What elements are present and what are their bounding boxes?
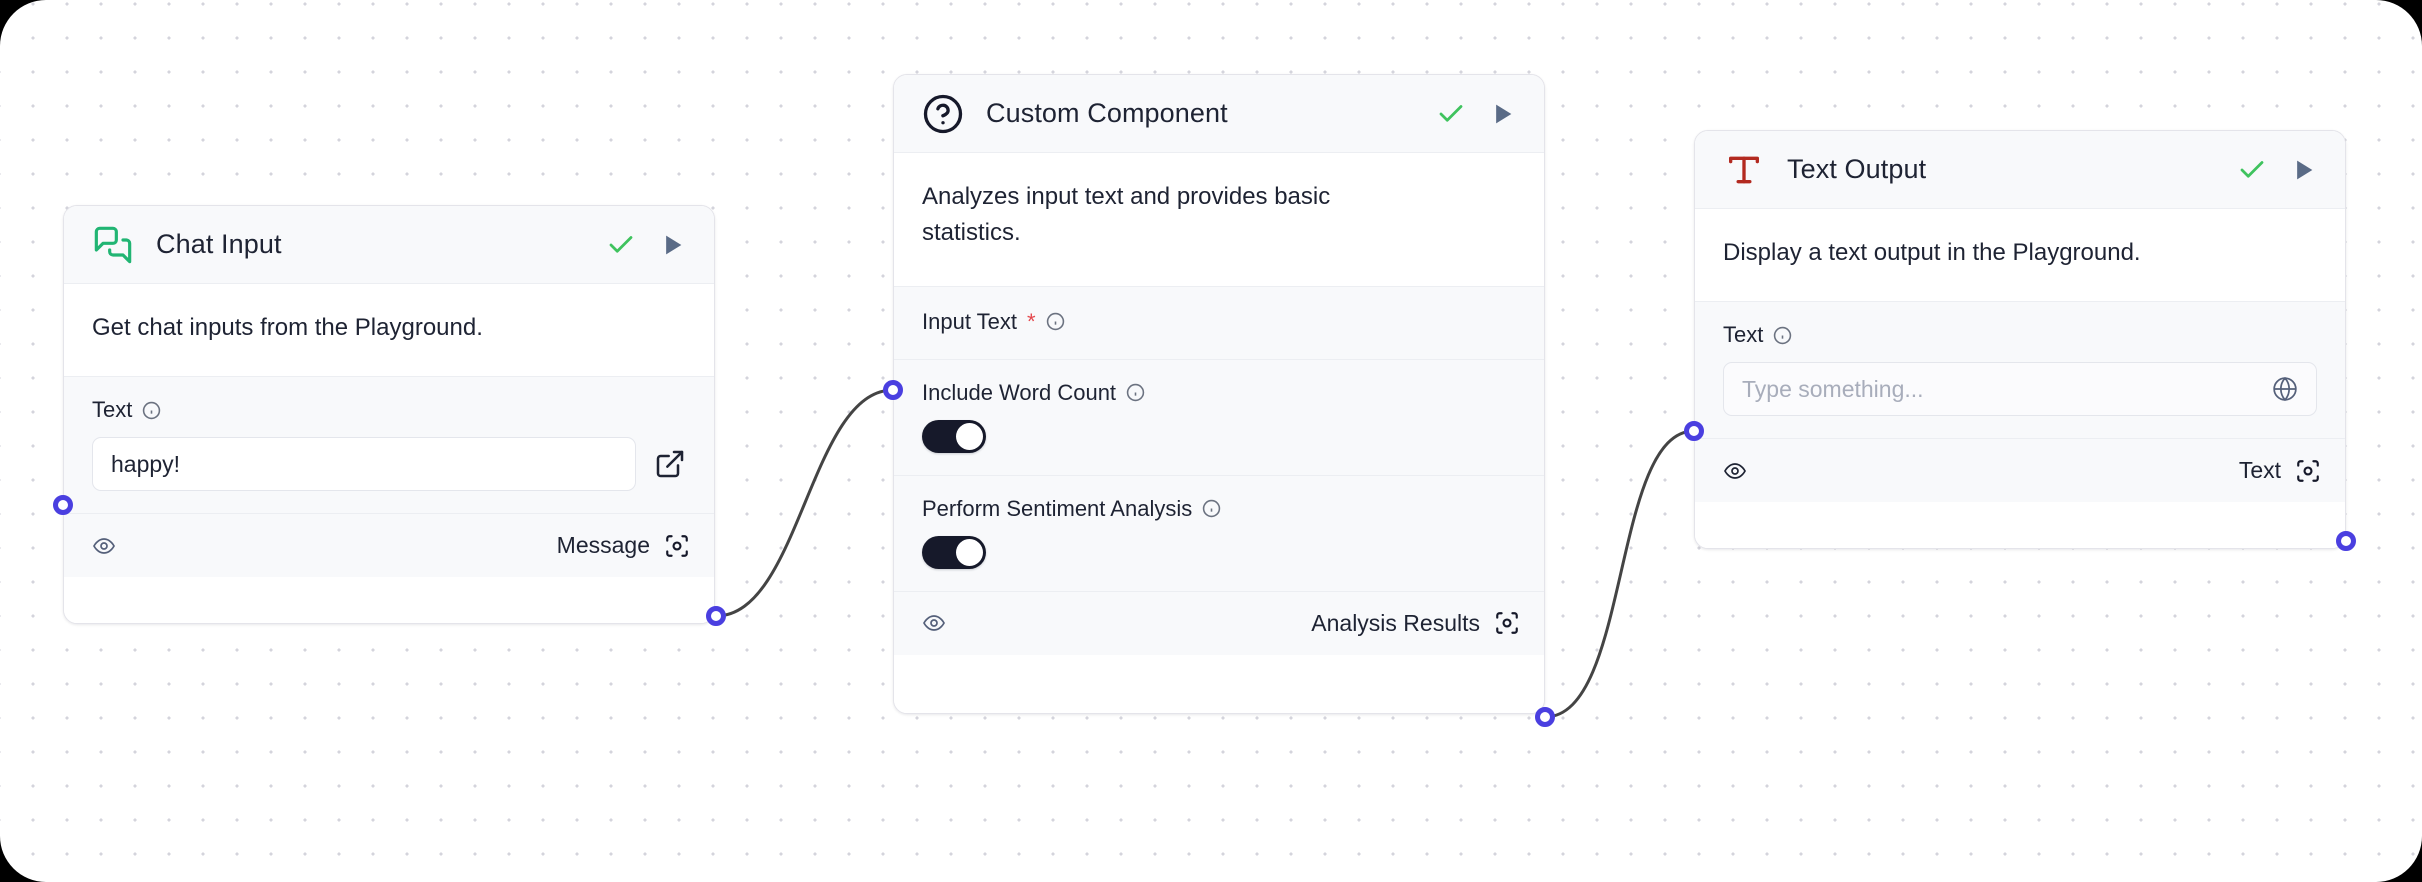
info-icon[interactable] <box>1126 383 1145 402</box>
node-footer-chat-input: Message <box>64 513 714 577</box>
toggle-knob <box>956 539 983 566</box>
play-icon[interactable] <box>2289 156 2317 184</box>
field-row-input-text: Input Text * <box>894 286 1544 359</box>
node-text-output[interactable]: Text Output Display a text output in the… <box>1694 130 2346 549</box>
node-custom-component[interactable]: Custom Component Analyzes input text and… <box>893 74 1545 714</box>
type-letter-t-icon <box>1723 149 1765 191</box>
info-icon[interactable] <box>1202 499 1221 518</box>
node-description: Analyzes input text and provides basic s… <box>894 153 1454 286</box>
node-title: Chat Input <box>156 229 282 260</box>
field-row-text: Text happy! <box>64 376 714 513</box>
field-label-input-text: Input Text * <box>922 309 1516 335</box>
node-title: Custom Component <box>986 98 1228 129</box>
info-icon[interactable] <box>1773 326 1792 345</box>
field-label-text: Text <box>92 397 686 423</box>
output-name: Analysis Results <box>1311 610 1480 637</box>
output-handle-group-message[interactable]: Message <box>557 532 690 559</box>
output-handle-custom-component-analysis-results[interactable] <box>1535 707 1555 727</box>
field-label-text-value: Text <box>92 397 132 423</box>
field-label-perform-sentiment-analysis-value: Perform Sentiment Analysis <box>922 496 1192 522</box>
scan-target-icon[interactable] <box>664 533 690 559</box>
info-icon[interactable] <box>142 401 161 420</box>
node-tail <box>64 577 714 623</box>
node-header-text-output[interactable]: Text Output <box>1695 131 2345 209</box>
play-icon[interactable] <box>1488 100 1516 128</box>
globe-icon[interactable] <box>2272 376 2298 402</box>
field-row-perform-sentiment-analysis: Perform Sentiment Analysis <box>894 475 1544 591</box>
field-label-text-value: Text <box>1723 322 1763 348</box>
node-header-custom-component[interactable]: Custom Component <box>894 75 1544 153</box>
node-description: Display a text output in the Playground. <box>1695 209 2345 301</box>
field-label-include-word-count-value: Include Word Count <box>922 380 1116 406</box>
text-input-wrap: Type something... <box>1723 362 2317 416</box>
node-footer-custom-component: Analysis Results <box>894 591 1544 655</box>
scan-target-icon[interactable] <box>1494 610 1520 636</box>
eye-icon[interactable] <box>922 611 946 635</box>
flow-canvas[interactable]: Chat Input Get chat inputs from the Play… <box>0 0 2422 882</box>
scan-target-icon[interactable] <box>2295 458 2321 484</box>
output-name: Message <box>557 532 650 559</box>
output-name: Text <box>2239 457 2281 484</box>
node-header-actions <box>1436 99 1516 129</box>
node-header-actions <box>606 230 686 260</box>
external-link-icon[interactable] <box>654 448 686 480</box>
question-circle-icon <box>922 93 964 135</box>
text-input-wrap: happy! <box>92 437 686 491</box>
output-handle-text-output-text[interactable] <box>2336 531 2356 551</box>
node-description: Get chat inputs from the Playground. <box>64 284 714 376</box>
eye-icon[interactable] <box>1723 459 1747 483</box>
toggle-perform-sentiment-analysis[interactable] <box>922 536 986 569</box>
messages-square-icon <box>92 224 134 266</box>
output-handle-chat-input-message[interactable] <box>706 606 726 626</box>
node-chat-input[interactable]: Chat Input Get chat inputs from the Play… <box>63 205 715 624</box>
node-tail <box>894 655 1544 713</box>
field-label-include-word-count: Include Word Count <box>922 380 1516 406</box>
check-icon[interactable] <box>606 230 636 260</box>
edge-chat-input-to-custom-component <box>716 390 893 616</box>
required-marker: * <box>1027 311 1036 333</box>
field-label-perform-sentiment-analysis: Perform Sentiment Analysis <box>922 496 1516 522</box>
text-input-placeholder: Type something... <box>1742 376 1924 403</box>
node-tail <box>1695 502 2345 548</box>
node-footer-text-output: Text <box>1695 438 2345 502</box>
check-icon[interactable] <box>2237 155 2267 185</box>
input-handle-chat-input[interactable] <box>53 495 73 515</box>
node-header-actions <box>2237 155 2317 185</box>
toggle-knob <box>956 423 983 450</box>
field-label-text: Text <box>1723 322 2317 348</box>
input-handle-custom-component-input-text[interactable] <box>883 380 903 400</box>
text-input-output[interactable]: Type something... <box>1723 362 2317 416</box>
check-icon[interactable] <box>1436 99 1466 129</box>
node-title: Text Output <box>1787 154 1926 185</box>
info-icon[interactable] <box>1046 312 1065 331</box>
text-input-chat[interactable]: happy! <box>92 437 636 491</box>
node-header-chat-input[interactable]: Chat Input <box>64 206 714 284</box>
output-handle-group-text[interactable]: Text <box>2239 457 2321 484</box>
edge-custom-component-to-text-output <box>1545 431 1694 717</box>
play-icon[interactable] <box>658 231 686 259</box>
field-row-include-word-count: Include Word Count <box>894 359 1544 475</box>
input-handle-text-output-text[interactable] <box>1684 421 1704 441</box>
field-label-input-text-value: Input Text <box>922 309 1017 335</box>
text-input-value: happy! <box>111 451 180 478</box>
eye-icon[interactable] <box>92 534 116 558</box>
field-row-text: Text Type something... <box>1695 301 2345 438</box>
toggle-include-word-count[interactable] <box>922 420 986 453</box>
output-handle-group-analysis-results[interactable]: Analysis Results <box>1311 610 1520 637</box>
